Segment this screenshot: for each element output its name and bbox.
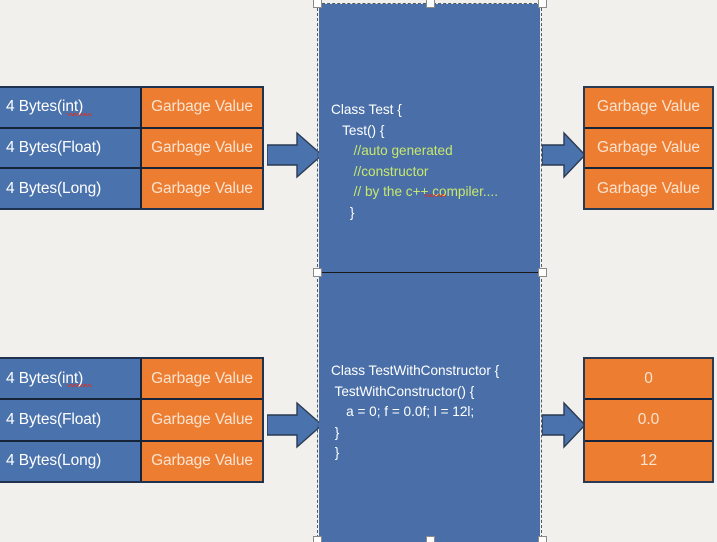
table-row: 4 Bytes(Float) Garbage Value: [0, 398, 262, 439]
memory-size-cell: 4 Bytes(Float): [0, 129, 140, 168]
result-value: Garbage Value: [597, 180, 700, 198]
table-row: Garbage Value: [585, 167, 712, 208]
table-row: 4 Bytes(Float) Garbage Value: [0, 127, 262, 168]
memory-size-cell: 4 Bytes(Long): [0, 169, 140, 208]
memory-size-label: 4 Bytes(Long): [6, 180, 101, 198]
arrow-memory-to-class-top: [267, 131, 323, 179]
memory-value-cell: Garbage Value: [140, 129, 262, 168]
memory-size-label: 4 Bytes(Float): [6, 139, 101, 157]
memory-value-cell: Garbage Value: [140, 169, 262, 208]
memory-value-label: Garbage Value: [151, 370, 253, 388]
memory-size-cell: 4 Bytes(int): [0, 359, 140, 398]
top-memory-table: 4 Bytes(int) Garbage Value 4 Bytes(Float…: [0, 86, 264, 210]
resize-handle-top-right[interactable]: [538, 0, 547, 8]
memory-value-cell: Garbage Value: [140, 400, 262, 439]
table-row: Garbage Value: [585, 127, 712, 168]
table-row: 0: [585, 359, 712, 398]
memory-value-label: Garbage Value: [151, 411, 253, 429]
result-value: Garbage Value: [597, 139, 700, 157]
code-line: Class Test {: [331, 102, 402, 117]
resize-handle-top-center[interactable]: [426, 0, 435, 8]
resize-handle-middle-right[interactable]: [538, 268, 547, 277]
resize-handle-bottom-center[interactable]: [426, 536, 435, 542]
table-row: 4 Bytes(int) Garbage Value: [0, 88, 262, 127]
memory-size-label: 4 Bytes(Float): [6, 411, 101, 429]
class-test-panel[interactable]: Class Test { Test() { //auto generated /…: [319, 4, 540, 272]
resize-handle-top-left[interactable]: [313, 0, 322, 8]
resize-handle-bottom-right[interactable]: [538, 536, 547, 542]
resize-handle-bottom-left[interactable]: [313, 536, 322, 542]
table-row: 0.0: [585, 398, 712, 439]
table-row: 4 Bytes(int) Garbage Value: [0, 359, 262, 398]
result-value: 0: [644, 370, 653, 388]
memory-value-cell: Garbage Value: [140, 359, 262, 398]
spellcheck-squiggle-icon: [67, 113, 92, 116]
memory-value-label: Garbage Value: [151, 452, 253, 470]
result-value: 0.0: [638, 411, 660, 429]
slide-canvas: 4 Bytes(int) Garbage Value 4 Bytes(Float…: [0, 0, 717, 542]
memory-value-cell: Garbage Value: [140, 442, 262, 481]
code-line: }: [331, 445, 339, 460]
class-test-code: Class Test { Test() { //auto generated /…: [331, 100, 498, 223]
table-row: 4 Bytes(Long) Garbage Value: [0, 440, 262, 481]
arrow-memory-to-class-bottom: [267, 401, 323, 449]
arrow-class-to-result-top: [542, 131, 586, 179]
class-testwithconstructor-code: Class TestWithConstructor { TestWithCons…: [331, 361, 499, 464]
memory-value-label: Garbage Value: [151, 98, 253, 116]
bottom-memory-table: 4 Bytes(int) Garbage Value 4 Bytes(Float…: [0, 357, 264, 483]
memory-size-cell: 4 Bytes(Float): [0, 400, 140, 439]
panel-divider: [319, 272, 540, 273]
bottom-result-table: 0 0.0 12: [583, 357, 714, 483]
top-result-table: Garbage Value Garbage Value Garbage Valu…: [583, 86, 714, 210]
code-line: Test() {: [331, 123, 384, 138]
class-testwithconstructor-panel[interactable]: Class TestWithConstructor { TestWithCons…: [319, 273, 540, 542]
code-line: a = 0; f = 0.0f; l = 12l;: [331, 404, 474, 419]
result-value: 12: [640, 452, 657, 470]
table-row: 12: [585, 440, 712, 481]
code-comment-line: //auto generated: [331, 143, 453, 158]
result-value: Garbage Value: [597, 98, 700, 116]
code-line: }: [331, 205, 354, 220]
code-line: }: [331, 425, 339, 440]
memory-size-label: 4 Bytes(Long): [6, 452, 101, 470]
spellcheck-squiggle-icon: [424, 194, 446, 197]
code-line: TestWithConstructor() {: [331, 384, 474, 399]
memory-value-label: Garbage Value: [151, 139, 253, 157]
memory-value-label: Garbage Value: [151, 180, 253, 198]
resize-handle-middle-left[interactable]: [313, 268, 322, 277]
memory-size-cell: 4 Bytes(Long): [0, 442, 140, 481]
table-row: Garbage Value: [585, 88, 712, 127]
code-comment-line: // by the c++ compiler....: [331, 184, 498, 199]
code-comment-line: //constructor: [331, 164, 428, 179]
arrow-class-to-result-bottom: [542, 401, 586, 449]
table-row: 4 Bytes(Long) Garbage Value: [0, 167, 262, 208]
memory-value-cell: Garbage Value: [140, 88, 262, 127]
memory-size-cell: 4 Bytes(int): [0, 88, 140, 127]
spellcheck-squiggle-icon: [67, 384, 92, 387]
code-line: Class TestWithConstructor {: [331, 363, 499, 378]
